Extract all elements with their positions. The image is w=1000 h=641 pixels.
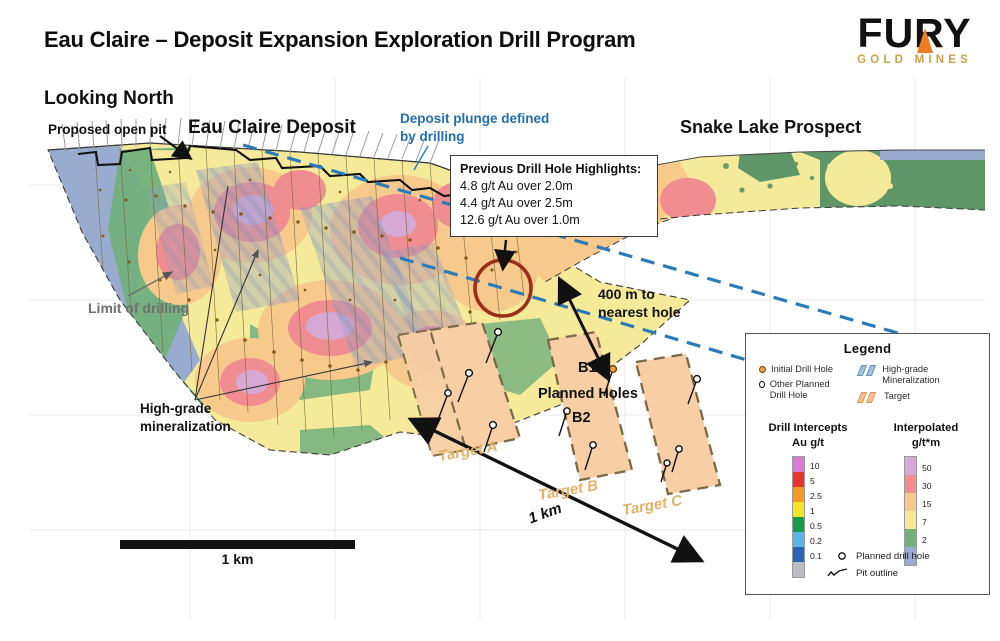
legend-other-planned-drill-hole: Other Planned Drill Hole (759, 379, 845, 402)
drill-intercepts-title-2: Au g/t (754, 437, 862, 451)
colorbar-band (793, 532, 804, 547)
diagonal-scale-label: 1 km (526, 500, 564, 528)
target-b-box (548, 332, 632, 480)
legend-pit-outline-label: Pit outline (856, 568, 898, 579)
colorbar-band (905, 493, 916, 511)
callout-line-2: 4.4 g/t Au over 2.5m (460, 195, 649, 212)
drill-highlights-callout: Previous Drill Hole Highlights: 4.8 g/t … (450, 155, 658, 237)
colorbar-tick: 50 (922, 459, 932, 477)
drill-intercepts-ticks: 1052.510.50.20.1 (810, 459, 822, 564)
colorbar-band (793, 502, 804, 517)
colorbar-tick: 15 (922, 495, 932, 513)
legend-high-grade-mineralization: High-grade Mineralization (859, 364, 979, 387)
colorbar-tick: 2.5 (810, 489, 822, 504)
callout-leader (503, 240, 506, 268)
planned-holes-label: Planned Holes (538, 386, 638, 402)
legend-panel: Legend Initial Drill Hole Other Planned … (745, 333, 990, 595)
other-planned-drill-hole-icon (759, 381, 765, 388)
interpolated-title-2: g/t*m (872, 437, 980, 451)
target-a-label: Target A (437, 438, 499, 465)
interpolated-ticks: 50301572 (922, 459, 932, 549)
target-swatch-icon (859, 392, 879, 403)
legend-high-grade-label: High-grade Mineralization (882, 364, 979, 387)
deposit-plunge-label: Deposit plunge defined by drilling (400, 110, 550, 146)
colorbar-tick: 30 (922, 477, 932, 495)
pit-leader (160, 136, 190, 158)
colorbar-tick: 1 (810, 504, 822, 519)
interpolated-title-1: Interpolated (872, 422, 980, 436)
initial-drill-hole-icon (759, 366, 766, 373)
flame-icon (917, 28, 933, 53)
highlight-circle (475, 260, 531, 316)
colorbar-tick: 10 (810, 459, 822, 474)
legend-initial-drill-hole-label: Initial Drill Hole (771, 364, 833, 375)
distance-to-nearest-hole-label: 400 m to nearest hole (598, 286, 708, 322)
colorbar-tick: 0.2 (810, 534, 822, 549)
target-b-label: Target B (537, 477, 599, 504)
legend-initial-drill-hole: Initial Drill Hole (759, 364, 833, 375)
colorbar-band (905, 457, 916, 475)
scale-bar (120, 540, 355, 549)
target-c-label: Target C (621, 492, 683, 519)
logo-wordmark: FURY (857, 14, 972, 53)
snake-lake-prospect-label: Snake Lake Prospect (680, 117, 861, 138)
colorbar-band (793, 517, 804, 532)
callout-line-3: 12.6 g/t Au over 1.0m (460, 212, 649, 229)
pit-outline-icon (826, 567, 850, 579)
target-a-extra (398, 330, 466, 456)
eau-claire-deposit-label: Eau Claire Deposit (188, 117, 356, 139)
drill-intercepts-title-1: Drill Intercepts (754, 422, 862, 436)
high-grade-panel (146, 162, 482, 382)
snake-lake-band (610, 140, 995, 230)
colorbar-band (793, 562, 804, 577)
target-c-box (636, 354, 720, 494)
target-a-box (430, 322, 520, 450)
colorbar-tick: 5 (810, 474, 822, 489)
high-grade-mineralization-label: High-grade mineralization (140, 400, 260, 435)
colorbar-band (905, 511, 916, 529)
planned-drill-hole-icon (836, 550, 848, 562)
legend-title: Legend (746, 341, 989, 356)
proposed-open-pit-label: Proposed open pit (48, 122, 167, 137)
colorbar-band (793, 487, 804, 502)
legend-pit-outline: Pit outline (826, 567, 898, 579)
scale-bar-label: 1 km (120, 551, 355, 567)
limit-leader (128, 272, 172, 296)
colorbar-band (793, 547, 804, 562)
hole-b1-label: B1 (578, 360, 597, 376)
high-grade-swatch-icon (859, 365, 877, 376)
limit-of-drilling-label: Limit of drilling (88, 300, 189, 316)
callout-line-1: 4.8 g/t Au over 2.0m (460, 178, 649, 195)
colorbar-tick: 0.1 (810, 549, 822, 564)
fury-logo: FURY GOLD MINES (857, 14, 972, 66)
hole-b2-label: B2 (572, 410, 591, 426)
colorbar-band (905, 529, 916, 547)
looking-north-label: Looking North (44, 88, 174, 110)
planned-drill-holes (438, 329, 700, 482)
diagram-canvas: Eau Claire – Deposit Expansion Explorati… (0, 0, 1000, 641)
page-title: Eau Claire – Deposit Expansion Explorati… (44, 27, 636, 53)
colorbar-tick: 0.5 (810, 519, 822, 534)
drill-intercepts-colorbar (792, 456, 805, 578)
colorbar-tick: 2 (922, 531, 932, 549)
legend-other-planned-drill-hole-label: Other Planned Drill Hole (770, 379, 845, 402)
legend-planned-drill-hole: Planned drill hole (836, 550, 930, 562)
colorbar-band (793, 457, 804, 472)
pit-outline-path (78, 146, 500, 198)
colorbar-band (905, 475, 916, 493)
legend-planned-drill-hole-label: Planned drill hole (856, 551, 930, 562)
legend-target-label: Target (884, 391, 910, 402)
colorbar-band (793, 472, 804, 487)
legend-target: Target (859, 391, 979, 403)
colorbar-tick: 7 (922, 513, 932, 531)
callout-heading: Previous Drill Hole Highlights: (460, 162, 649, 176)
